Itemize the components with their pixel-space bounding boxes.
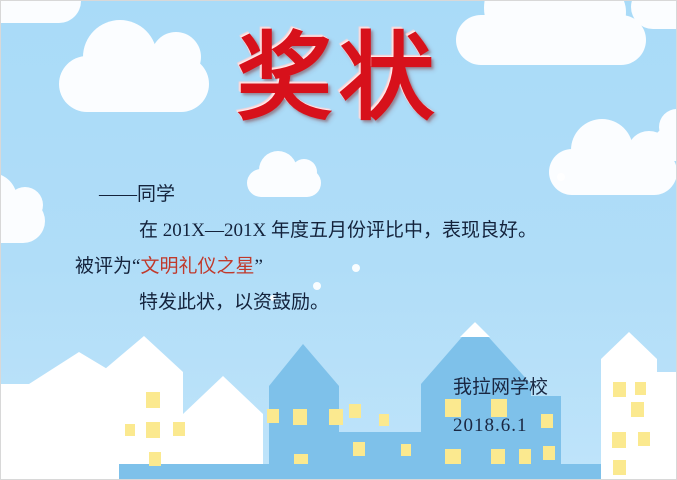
- window: [353, 442, 365, 456]
- body-line-2: 被评为“文明礼仪之星”: [1, 249, 677, 285]
- window: [173, 422, 185, 436]
- window: [638, 432, 650, 446]
- ground-band: [119, 464, 677, 479]
- issue-date: 2018.6.1: [453, 407, 548, 445]
- window: [613, 382, 626, 397]
- award-suffix: ”: [254, 256, 262, 277]
- window: [267, 409, 279, 423]
- window: [125, 424, 135, 436]
- award-prefix: 被评为“: [75, 256, 140, 277]
- white-hill-left: [1, 352, 119, 479]
- window: [379, 414, 389, 426]
- window: [613, 460, 626, 475]
- white-tower-far-right: [601, 332, 657, 479]
- snow-cap: [460, 322, 490, 337]
- signature-block: 我拉网学校 2018.6.1: [453, 369, 548, 445]
- issuing-organization: 我拉网学校: [453, 369, 548, 407]
- window: [349, 404, 361, 418]
- recipient-line: ——同学: [1, 177, 677, 213]
- window: [635, 382, 646, 395]
- award-title: 文明礼仪之星: [140, 256, 254, 277]
- page-title: 奖状: [1, 23, 676, 133]
- body-line-3: 特发此状，以资鼓励。: [1, 285, 677, 321]
- window: [491, 449, 505, 465]
- certificate-body: ——同学 在 201X—201X 年度五月份评比中，表现良好。 被评为“文明礼仪…: [1, 177, 677, 321]
- city-skyline: [1, 314, 677, 479]
- window: [293, 409, 307, 425]
- window: [519, 449, 533, 465]
- window: [631, 402, 644, 417]
- window: [146, 392, 160, 408]
- window: [543, 446, 555, 460]
- award-certificate: 奖状 ——同学 在 201X—201X 年度五月份评比中，表现良好。 被评为“文…: [0, 0, 677, 480]
- window: [149, 452, 161, 466]
- white-house-left: [105, 336, 183, 479]
- body-line-1: 在 201X—201X 年度五月份评比中，表现良好。: [1, 213, 677, 249]
- white-roof-middle: [183, 376, 263, 479]
- window: [612, 432, 626, 448]
- window: [401, 444, 411, 456]
- window: [147, 422, 159, 436]
- cloud-top-left-corner: [0, 0, 81, 23]
- white-tower-extension: [657, 372, 677, 479]
